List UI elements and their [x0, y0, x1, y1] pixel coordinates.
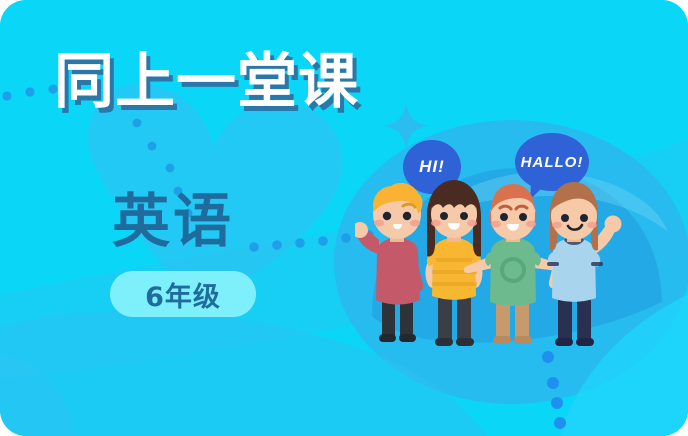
- kid1-shoe-right: [399, 334, 416, 342]
- kid3-eye-right: [519, 213, 527, 221]
- kid4-cheek-right: [587, 222, 597, 229]
- kid4-shoe-right: [576, 338, 594, 346]
- kid4-cuff-right: [591, 262, 603, 266]
- kid4-cuff-left: [547, 262, 559, 266]
- kid2-leg-left: [438, 294, 452, 344]
- kid3-shirt: [490, 238, 536, 306]
- kid2-eye-left: [440, 212, 448, 220]
- kid2-cheek-left: [431, 220, 441, 227]
- kid3-leg-left: [496, 300, 510, 342]
- hallo-speech-bubble-text: HALLO!: [521, 154, 584, 171]
- kid4-shirt: [552, 238, 596, 302]
- kid3-shoe-right: [514, 336, 532, 344]
- kid1-eye-left: [383, 212, 391, 220]
- kid-brown-hair-girl: [426, 180, 483, 346]
- kid1-cheek-right: [410, 220, 420, 227]
- grade-badge: 6年级: [110, 271, 256, 317]
- hi-speech-bubble-text: HI!: [419, 157, 445, 177]
- kid3-cheek-right: [526, 221, 536, 228]
- kid3-eye-left: [500, 213, 508, 221]
- course-card[interactable]: 同上一堂课 英语 6年级 HI! HALLO!: [0, 0, 688, 436]
- kid4-leg-left: [558, 296, 572, 344]
- page-title: 同上一堂课: [54, 52, 359, 112]
- kid2-cheek-right: [467, 220, 477, 227]
- kid2-leg-right: [457, 294, 471, 344]
- kid4-leg-right: [577, 296, 591, 344]
- kid3-cheek-left: [491, 221, 501, 228]
- subject-title: 英语: [112, 192, 234, 250]
- kid2-eye-right: [460, 212, 468, 220]
- kids-illustration: [355, 178, 645, 356]
- kid-blonde-boy: [355, 183, 423, 342]
- kid2-shoe-left: [435, 338, 453, 346]
- kid4-eye-right: [580, 214, 588, 222]
- kid4-shoe-left: [555, 338, 573, 346]
- kid1-shoe-left: [379, 334, 396, 342]
- kid-light-brown-girl: [547, 182, 622, 346]
- grade-badge-label: 6年级: [145, 275, 221, 314]
- kid1-cheek-left: [374, 220, 384, 227]
- kids-group: [355, 178, 645, 356]
- kid1-eye-right: [403, 212, 411, 220]
- kid3-shoe-left: [493, 336, 511, 344]
- kid4-hand-right: [605, 216, 622, 233]
- kid4-cheek-left: [552, 222, 562, 229]
- kid2-shoe-right: [456, 338, 474, 346]
- kid4-eye-left: [561, 214, 569, 222]
- kid3-leg-right: [515, 300, 529, 342]
